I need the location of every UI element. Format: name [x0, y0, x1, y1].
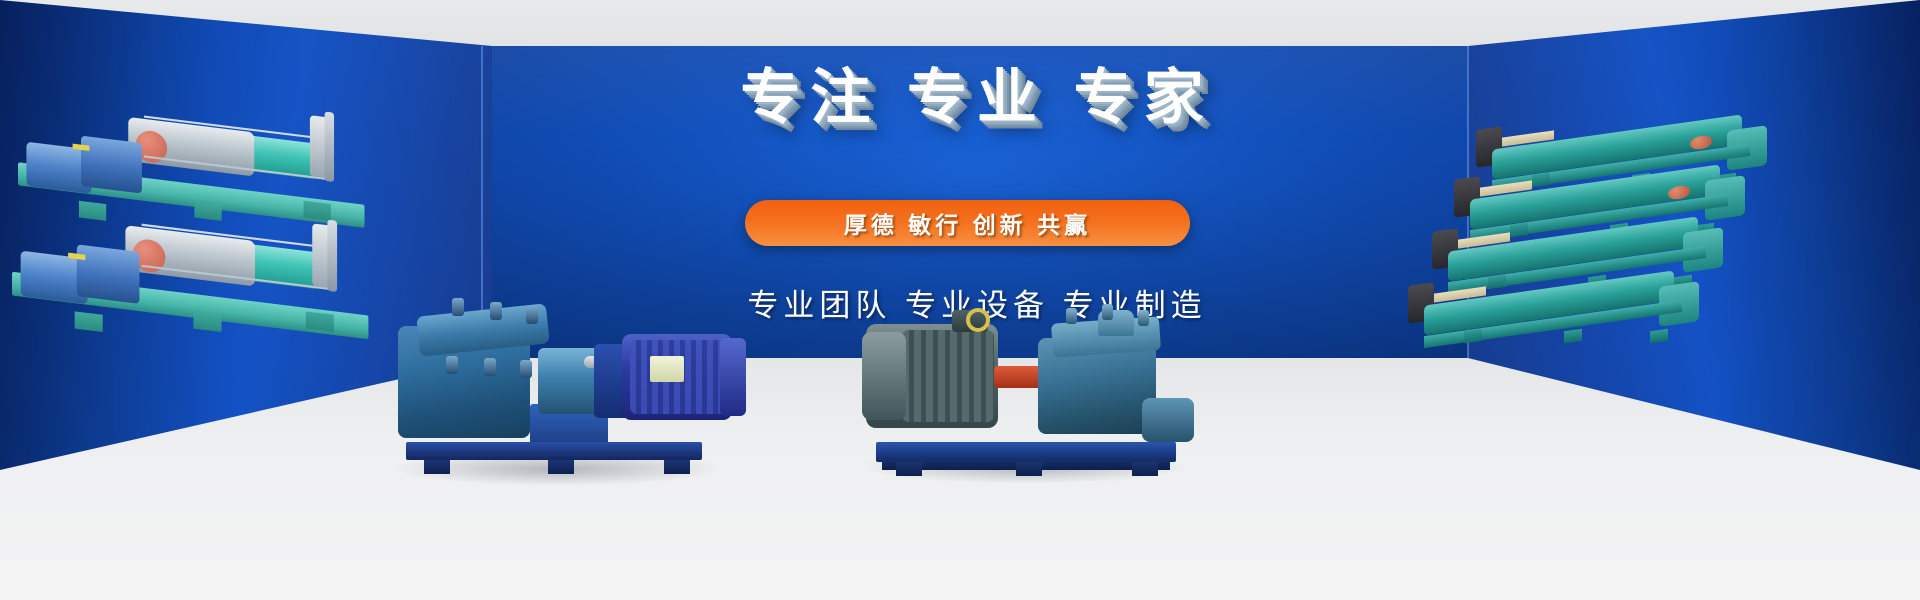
tagline-pill-badge: 厚德 敏行 创新 共赢 — [745, 200, 1190, 246]
three-screw-pump-with-grey-motor — [866, 302, 1206, 477]
three-screw-pump-with-blue-motor — [398, 300, 758, 480]
banner-headline: 专注 专业 专家 — [482, 66, 1472, 129]
promo-banner: 专注 专业 专家 厚德 敏行 创新 共赢 专业团队 专业设备 专业制造 — [0, 0, 1920, 600]
tagline-pill-label: 厚德 敏行 创新 共赢 — [844, 206, 1091, 240]
